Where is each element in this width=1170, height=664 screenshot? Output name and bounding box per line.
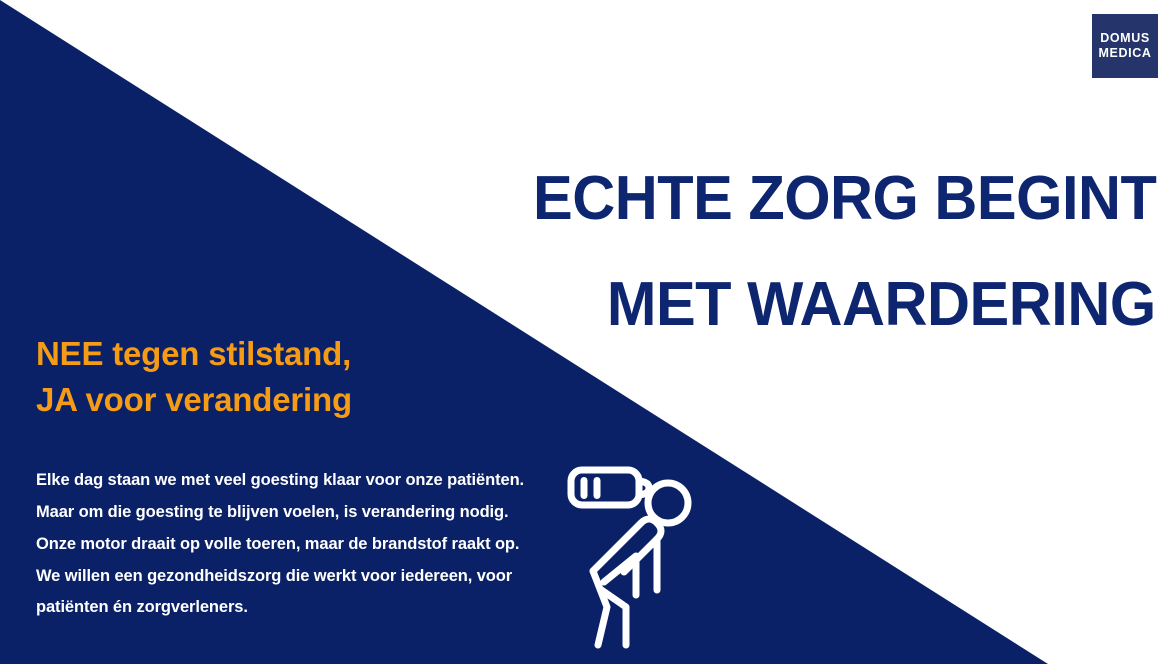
logo-line-domus: DOMUS bbox=[1100, 31, 1150, 46]
campaign-poster: DOMUS MEDICA ECHTE ZORG BEGINT MET WAARD… bbox=[0, 0, 1170, 664]
headline-line-1: ECHTE ZORG BEGINT bbox=[533, 168, 1156, 230]
headline-line-2: MET WAARDERING bbox=[607, 274, 1156, 336]
subheading-line-1: NEE tegen stilstand, bbox=[36, 331, 506, 377]
body-paragraph: Elke dag staan we met veel goesting klaa… bbox=[36, 465, 541, 624]
subheading: NEE tegen stilstand, JA voor verandering bbox=[36, 331, 506, 422]
logo-line-medica: MEDICA bbox=[1099, 46, 1152, 61]
exhausted-person-low-battery-icon bbox=[560, 455, 710, 650]
subheading-line-2: JA voor verandering bbox=[36, 377, 506, 423]
low-battery-icon bbox=[571, 470, 649, 505]
domus-medica-logo[interactable]: DOMUS MEDICA bbox=[1092, 14, 1158, 78]
